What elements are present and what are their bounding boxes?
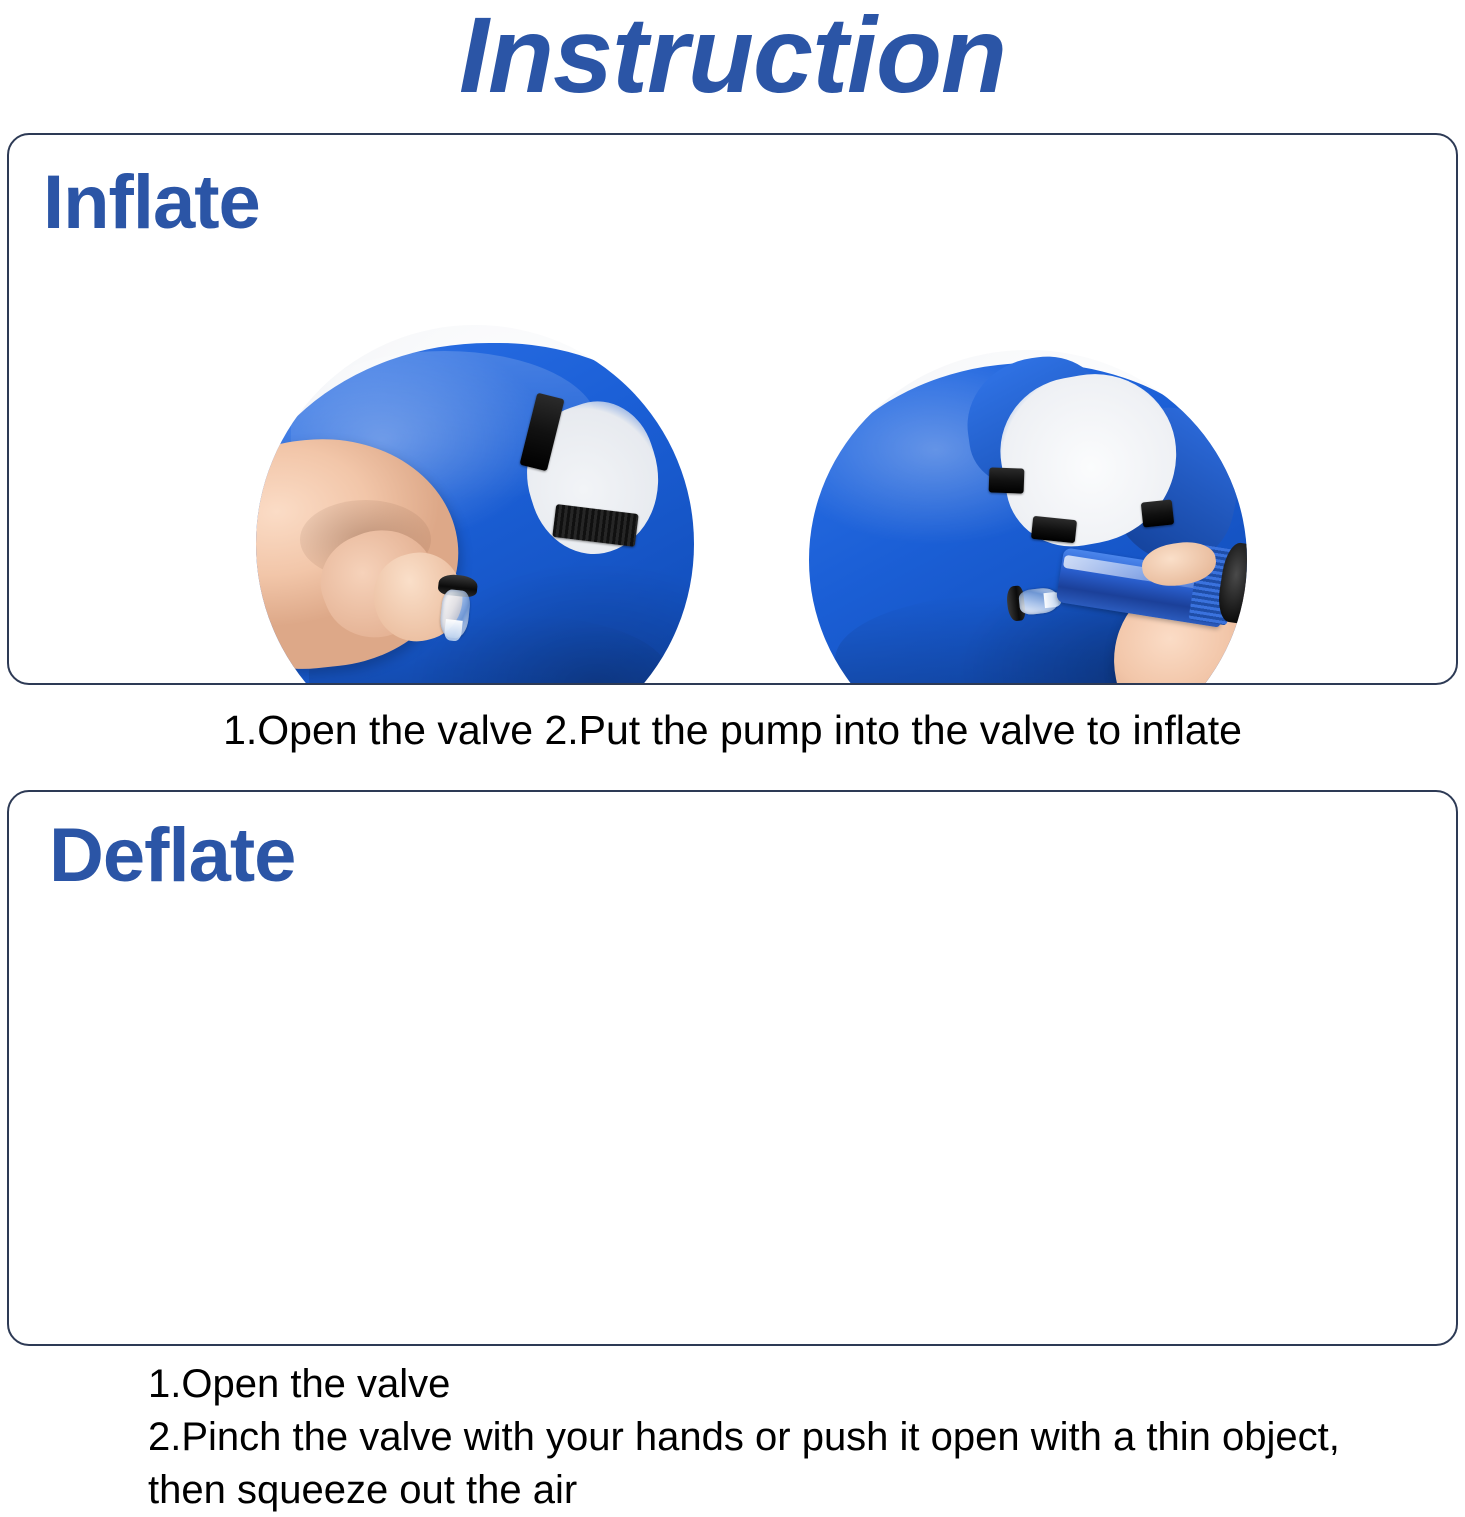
deflate-caption: 1.Open the valve 2.Pinch the valve with …	[148, 1358, 1448, 1517]
inflate-panel: Inflate	[7, 133, 1458, 685]
black-strap	[988, 467, 1024, 493]
deflate-heading: Deflate	[49, 816, 295, 896]
deflate-caption-line-2: 2.Pinch the valve with your hands or pus…	[148, 1411, 1448, 1464]
page-title: Instruction	[0, 0, 1465, 116]
photo-open-valve	[256, 325, 694, 685]
inflate-caption-line-1: 1.Open the valve 2.Put the pump into the…	[0, 704, 1465, 756]
deflate-panel: Deflate	[7, 790, 1458, 1346]
deflate-caption-line-3: then squeeze out the air	[148, 1464, 1448, 1517]
inflate-caption: 1.Open the valve 2.Put the pump into the…	[0, 704, 1465, 756]
black-strap	[1031, 516, 1077, 544]
photo-pump-valve	[809, 350, 1247, 685]
inflate-heading: Inflate	[43, 163, 260, 243]
black-strap	[1141, 500, 1174, 528]
air-valve	[1005, 582, 1059, 622]
deflate-caption-line-1: 1.Open the valve	[148, 1358, 1448, 1411]
valve-tip	[443, 619, 462, 642]
air-valve	[432, 573, 478, 638]
